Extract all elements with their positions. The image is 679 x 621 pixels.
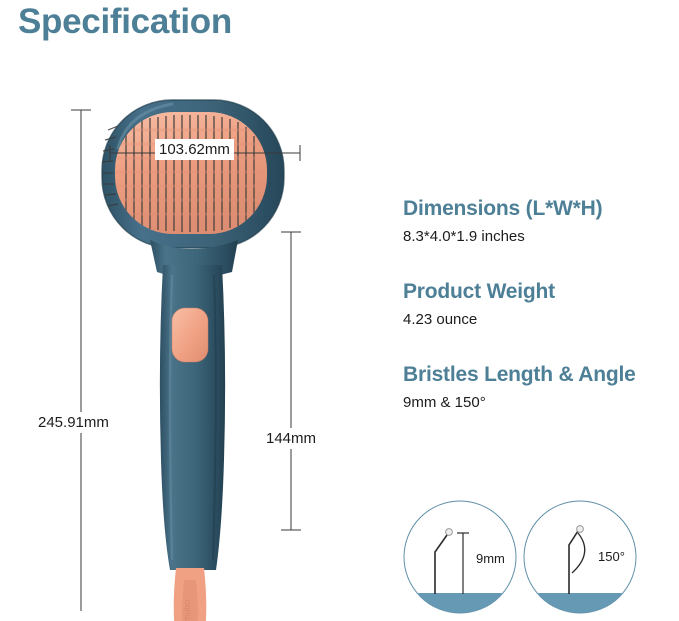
pin-tip (446, 529, 453, 536)
spec-value: 9mm & 150° (403, 394, 679, 411)
spec-title: Dimensions (L*W*H) (403, 197, 679, 221)
dim-line-handle (281, 232, 301, 530)
dimension-width-label: 103.62mm (155, 139, 234, 160)
bristle-length-figure: 9mm (400, 497, 520, 621)
dimension-height-label: 245.91mm (34, 412, 113, 433)
length-label: 9mm (476, 551, 505, 566)
pin-tip (577, 526, 584, 533)
spec-title: Product Weight (403, 280, 679, 304)
spec-value: 4.23 ounce (403, 311, 679, 328)
spec-item-dimensions: Dimensions (L*W*H) 8.3*4.0*1.9 inches (403, 197, 679, 245)
specification-list: Dimensions (L*W*H) 8.3*4.0*1.9 inches Pr… (403, 197, 679, 446)
dimension-handle-label: 144mm (262, 428, 320, 449)
spec-value: 8.3*4.0*1.9 inches (403, 228, 679, 245)
surface-fill (520, 593, 640, 621)
bristle-angle-figure: 150° (520, 497, 640, 621)
brush-head (102, 100, 284, 248)
spec-item-weight: Product Weight 4.23 ounce (403, 280, 679, 328)
bristle-detail-figures: 9mm 150° (400, 497, 660, 621)
product-dimension-figure: bomubo 103.62mm 245.91mm 144mm (0, 60, 380, 621)
retract-button (172, 308, 208, 362)
spec-item-bristles: Bristles Length & Angle 9mm & 150° (403, 363, 679, 411)
loop-brand-text: bomubo (182, 600, 192, 621)
page-title: Specification (18, 2, 232, 42)
hanging-loop: bomubo (174, 568, 207, 621)
dim-line-height (71, 110, 91, 611)
angle-label: 150° (598, 549, 625, 564)
spec-title: Bristles Length & Angle (403, 363, 679, 387)
surface-fill (400, 593, 520, 621)
